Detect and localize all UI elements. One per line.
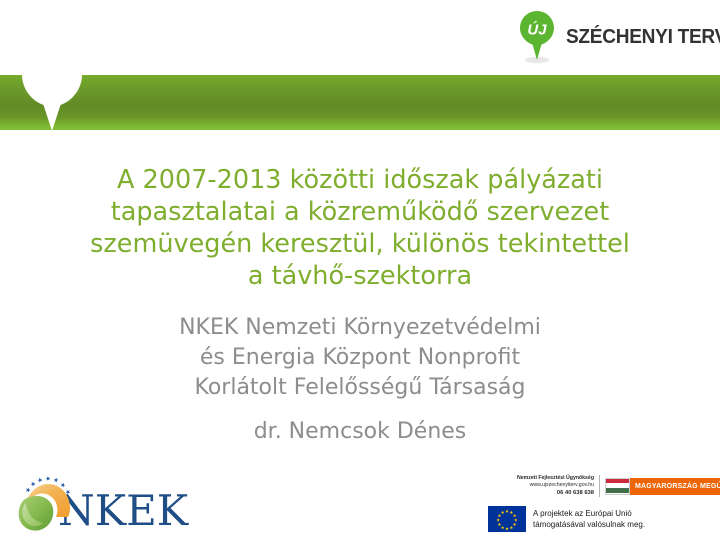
agency-name: Nemzeti Fejlesztési Ügynökség	[488, 475, 594, 482]
eu-text-line-2: támogatásával valósulnak meg.	[533, 519, 645, 530]
organization-line-3: Korlátolt Felelősségű Társaság	[30, 373, 690, 403]
agency-website: www.ujszechenyiterv.gov.hu	[488, 482, 594, 489]
presenter-name: dr. Nemcsok Dénes	[30, 417, 690, 447]
magyarorszag-megujul-badge: MAGYARORSZÁG MEGÚJUL	[630, 478, 720, 495]
eu-flag-icon	[488, 506, 526, 532]
nkek-wordmark: NKEK	[58, 490, 188, 532]
slide-title: A 2007-2013 közötti időszak pályázati ta…	[30, 164, 690, 292]
national-development-agency-row: Nemzeti Fejlesztési Ügynökség www.ujszec…	[488, 472, 716, 500]
presentation-slide: ÚJ SZÉCHENYI TERV A 2007-2013 k	[0, 0, 720, 540]
map-pin-icon: ÚJ	[514, 8, 560, 66]
eu-text-line-1: A projektek az Európai Unió	[533, 508, 645, 519]
title-line-4: a távhő-szektorra	[30, 260, 690, 292]
uj-szechenyi-terv-logo: ÚJ SZÉCHENYI TERV	[514, 6, 714, 68]
title-line-3: szemüvegén keresztül, különös tekintette…	[30, 228, 690, 260]
brand-wordmark: SZÉCHENYI TERV	[566, 25, 720, 49]
european-union-row: A projektek az Európai Unió támogatásáva…	[488, 506, 716, 532]
eu-funding-text: A projektek az Európai Unió támogatásáva…	[533, 508, 645, 530]
organization-line-1: NKEK Nemzeti Környezetvédelmi	[30, 313, 690, 343]
green-header-band	[0, 75, 720, 130]
hungary-flag-icon	[605, 478, 630, 495]
nkek-emblem-icon	[14, 472, 76, 534]
slide-subtitle: NKEK Nemzeti Környezetvédelmi és Energia…	[30, 313, 690, 447]
agency-contact-text: Nemzeti Fejlesztési Ügynökség www.ujszec…	[488, 475, 594, 498]
nkek-logo: NKEK	[14, 468, 214, 534]
pin-label: ÚJ	[527, 21, 547, 39]
title-line-1: A 2007-2013 közötti időszak pályázati	[30, 164, 690, 196]
title-line-2: tapasztalatai a közreműködő szervezet	[30, 196, 690, 228]
organization-line-2: és Energia Központ Nonprofit	[30, 343, 690, 373]
vertical-divider	[599, 475, 600, 497]
agency-phone: 06 40 638 638	[488, 489, 594, 497]
funding-acknowledgement-block: Nemzeti Fejlesztési Ügynökség www.ujszec…	[488, 472, 716, 534]
